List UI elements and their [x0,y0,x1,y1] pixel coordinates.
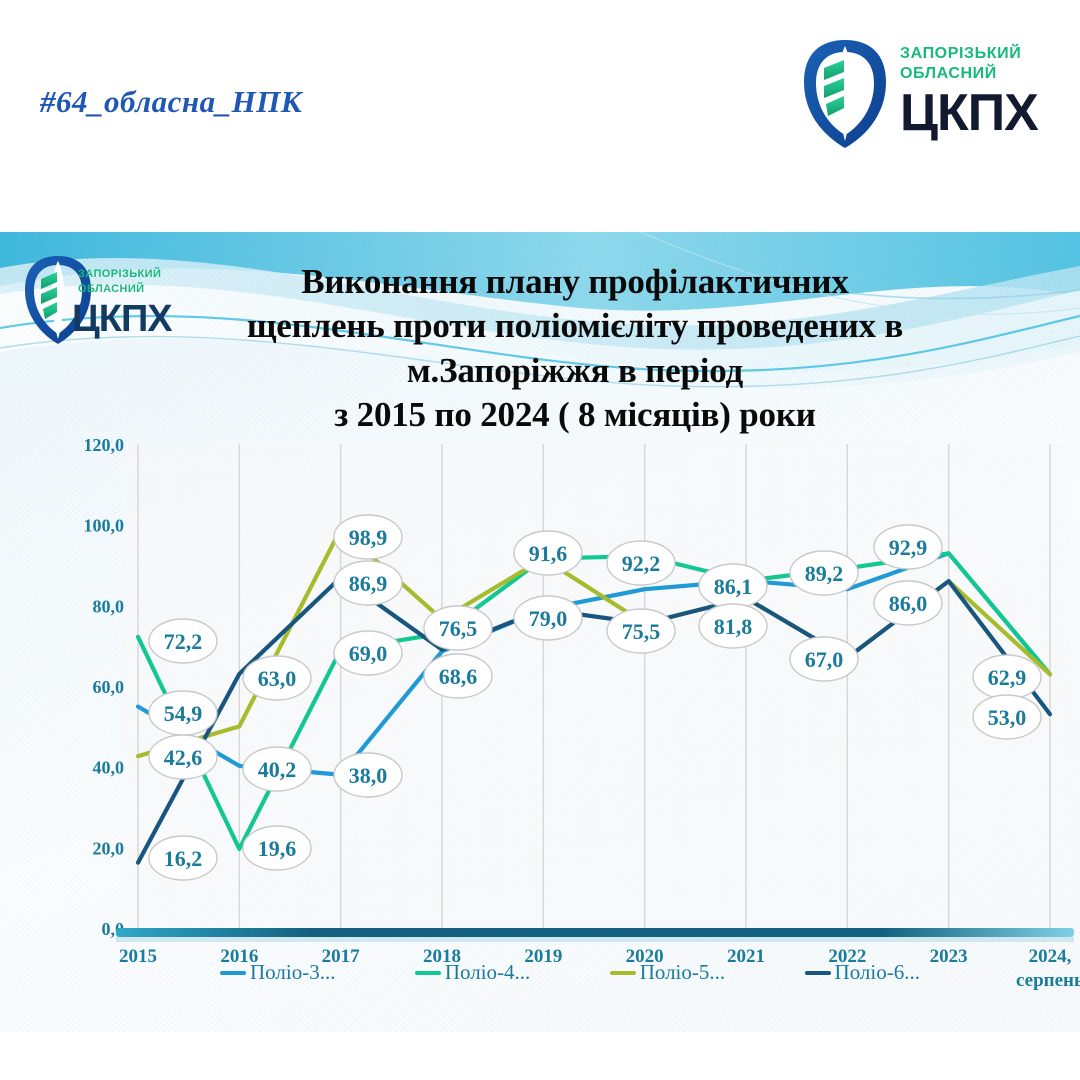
data-label: 91,6 [514,531,582,575]
data-label-value: 86,9 [349,571,388,596]
data-label-value: 53,0 [988,705,1027,730]
y-axis-tick-label: 40,0 [93,758,125,778]
data-label: 38,0 [334,753,402,797]
logo-acronym: ЦКПХ [900,87,1038,139]
data-label-value: 98,9 [349,525,388,550]
legend-item-polio-5[interactable]: Поліо-5... [610,960,725,985]
hashtag-label: #64_обласна_НПК [40,84,302,120]
legend-label-polio-4: Поліо-4... [445,960,530,985]
legend-item-polio-3[interactable]: Поліо-3... [220,960,335,985]
data-label: 63,0 [243,656,311,700]
data-label-value: 69,0 [349,641,388,666]
data-label-value: 89,2 [805,561,844,586]
data-label-value: 72,2 [164,629,203,654]
y-axis-tick-label: 120,0 [84,435,125,455]
data-label-value: 92,2 [622,551,661,576]
x-axis-tick-label-secondline: серпень [1016,970,1080,991]
data-label-value: 75,5 [622,619,661,644]
legend-label-polio-3: Поліо-3... [250,960,335,985]
data-label-value: 92,9 [889,535,928,560]
data-label: 72,2 [149,619,217,663]
x-axis-tick-label: 2015 [119,946,157,967]
legend-item-polio-6[interactable]: Поліо-6... [805,960,920,985]
logo-line-2: ОБЛАСНИЙ [900,64,1038,84]
y-axis-tick-label: 60,0 [93,677,125,697]
legend-swatch-polio-4 [415,971,441,975]
data-label: 69,0 [334,631,402,675]
logo-wordmark: ЗАПОРІЗЬКИЙ ОБЛАСНИЙ ЦКПХ [900,44,1038,139]
data-label: 76,5 [424,606,492,650]
ckph-logo-header: ЗАПОРІЗЬКИЙ ОБЛАСНИЙ ЦКПХ [800,38,1040,158]
data-label: 53,0 [973,695,1041,739]
data-label: 98,9 [334,515,402,559]
data-label: 92,9 [874,525,942,569]
legend-swatch-polio-3 [220,971,246,975]
x-axis-tick-label: 2024, [1029,946,1072,967]
data-label: 81,8 [699,604,767,648]
data-label: 86,1 [699,564,767,608]
top-banner: #64_обласна_НПК ЗАПОРІЗЬКИЙ ОБЛАСНИЙ [0,0,1080,232]
data-label-value: 79,0 [529,606,568,631]
y-axis-tick-label: 80,0 [93,596,125,616]
chart-canvas: 0,020,040,060,080,0100,0120,020152016201… [0,232,1080,1032]
data-label-value: 16,2 [164,846,203,871]
data-label-value: 91,6 [529,541,568,566]
data-label-value: 68,6 [439,664,478,689]
data-label: 75,5 [607,609,675,653]
data-label-value: 38,0 [349,763,388,788]
data-label: 79,0 [514,596,582,640]
data-label: 40,2 [243,747,311,791]
y-axis-tick-label: 100,0 [84,516,125,536]
shield-logo-icon [800,38,890,150]
legend-label-polio-5: Поліо-5... [640,960,725,985]
data-label-value: 54,9 [164,701,203,726]
data-label: 19,6 [243,826,311,870]
data-label-value: 81,8 [714,614,753,639]
logo-line-1: ЗАПОРІЗЬКИЙ [900,44,1038,64]
legend-swatch-polio-6 [805,971,831,975]
data-label: 62,9 [973,655,1041,699]
data-label-value: 40,2 [258,757,297,782]
data-label-value: 63,0 [258,666,297,691]
data-label-value: 86,0 [889,591,928,616]
chart-legend: Поліо-3... Поліо-4... Поліо-5... Поліо-6… [220,960,920,985]
y-axis-tick-label: 20,0 [93,838,125,858]
line-chart: 0,020,040,060,080,0100,0120,020152016201… [0,232,1080,1032]
data-label: 42,6 [149,735,217,779]
data-label-value: 67,0 [805,647,844,672]
x-axis-tick-label: 2023 [930,946,968,967]
data-label-value: 62,9 [988,665,1027,690]
data-label-value: 42,6 [164,745,203,770]
data-label: 68,6 [424,654,492,698]
data-label: 86,9 [334,561,402,605]
legend-label-polio-6: Поліо-6... [835,960,920,985]
data-label: 86,0 [874,581,942,625]
data-label: 89,2 [790,551,858,595]
data-label: 92,2 [607,541,675,585]
data-label: 54,9 [149,691,217,735]
legend-swatch-polio-5 [610,971,636,975]
data-label-value: 86,1 [714,574,753,599]
data-label: 16,2 [149,836,217,880]
legend-item-polio-4[interactable]: Поліо-4... [415,960,530,985]
data-label-value: 19,6 [258,836,297,861]
data-label-value: 76,5 [439,616,478,641]
data-label: 67,0 [790,637,858,681]
